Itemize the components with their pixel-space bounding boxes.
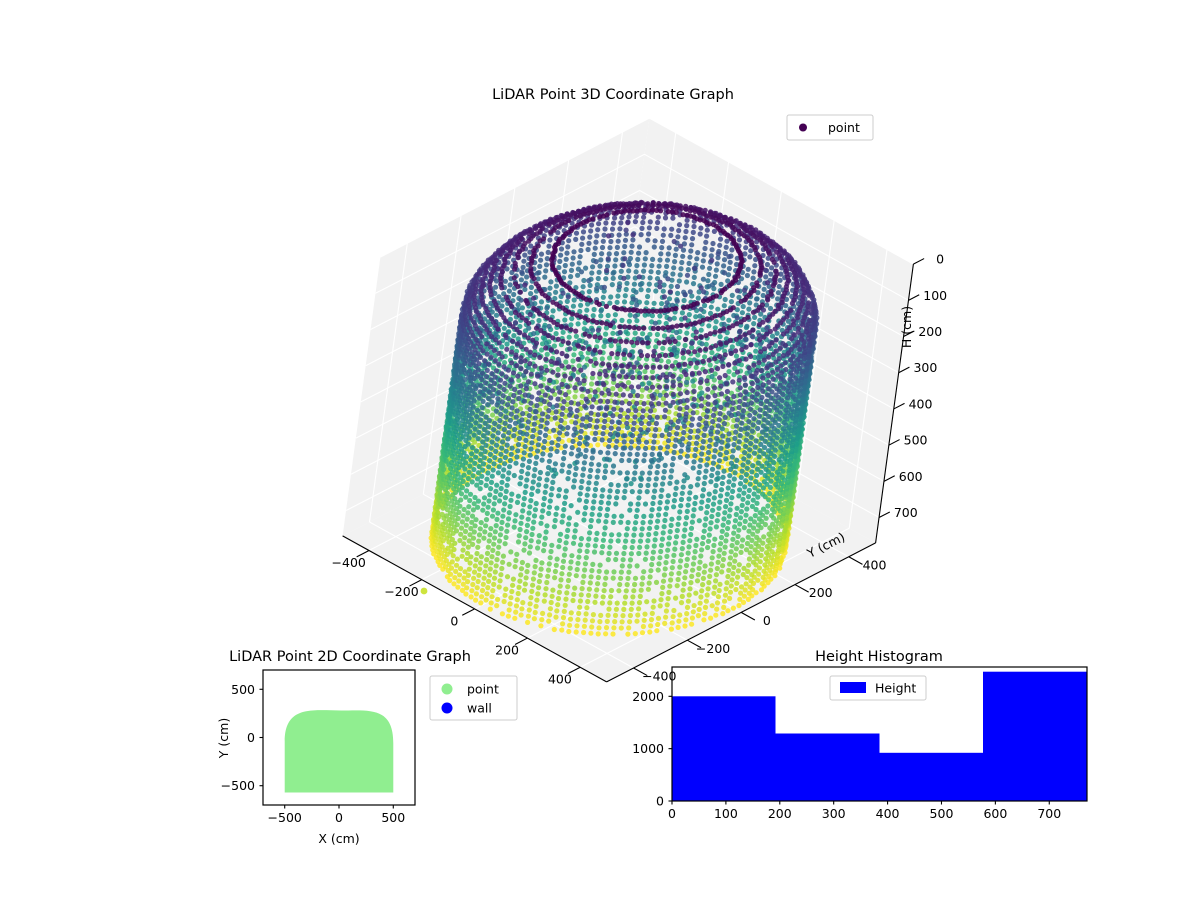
point-3d (559, 246, 564, 251)
point-3d (655, 220, 660, 225)
point-3d (622, 299, 627, 304)
point-3d (694, 335, 699, 340)
point-3d (634, 514, 639, 519)
point-3d (726, 520, 731, 525)
point-3d (783, 367, 788, 372)
point-3d (600, 544, 605, 549)
point-3d (705, 278, 710, 283)
point-3d (746, 419, 751, 424)
point-3d (638, 364, 643, 369)
point-3d (635, 393, 640, 398)
point-3d (686, 599, 691, 604)
point-3d (705, 387, 710, 392)
point-3d (642, 262, 647, 267)
point-3d (645, 238, 650, 243)
point-3d (700, 265, 705, 270)
point-3d (745, 273, 750, 278)
point-3d (730, 543, 735, 548)
point-3d (726, 254, 731, 259)
point-3d (601, 344, 606, 349)
point-3d (694, 537, 699, 542)
point-3d (723, 456, 728, 461)
point-3d (688, 484, 693, 489)
point-3d (590, 562, 595, 567)
point-3d (496, 294, 501, 299)
point-3d (713, 343, 718, 348)
point-3d (663, 512, 668, 517)
point-3d (642, 618, 647, 623)
point-3d (587, 289, 592, 294)
point-3d (611, 463, 616, 468)
point-3d (672, 450, 677, 455)
point-3d (741, 304, 746, 309)
point-3d (547, 222, 552, 227)
point-3d (741, 456, 746, 461)
point-3d (681, 478, 686, 483)
point-3d (620, 369, 625, 374)
point-3d (598, 613, 603, 618)
point-3d (716, 512, 721, 517)
point-3d (626, 380, 631, 385)
point-3d (731, 565, 736, 570)
point-3d (687, 312, 692, 317)
point-3d (538, 238, 543, 243)
point-3d (737, 237, 742, 242)
point-3d (683, 569, 688, 574)
point-3d (739, 231, 744, 236)
point-3d (776, 548, 781, 553)
point-3d (490, 412, 495, 417)
point-3d (608, 488, 613, 493)
point-3d (689, 526, 694, 531)
point-3d (722, 257, 727, 262)
point-3d (746, 460, 751, 465)
point-3d (756, 420, 761, 425)
point-3d (749, 435, 754, 440)
point-3d (696, 613, 701, 618)
point-3d (797, 347, 802, 352)
point-3d (606, 557, 611, 562)
point-3d (666, 209, 671, 214)
point-3d (674, 247, 679, 252)
point-3d (735, 369, 740, 374)
point-3d (782, 420, 787, 425)
point-3d (730, 293, 735, 298)
point-3d (747, 556, 752, 561)
point-3d (647, 629, 652, 634)
point-3d (765, 503, 770, 508)
point-3d (590, 328, 595, 333)
point-3d (641, 624, 646, 629)
point-3d (652, 543, 657, 548)
point-3d (631, 296, 636, 301)
point-3d (669, 284, 674, 289)
point-3d (725, 608, 730, 613)
point-3d (635, 508, 640, 513)
point-3d (758, 407, 763, 412)
point-3d (608, 294, 613, 299)
point-3d (725, 574, 730, 579)
point-3d (730, 537, 735, 542)
point-3d (725, 221, 730, 226)
point-3d (660, 346, 665, 351)
point-3d (612, 619, 617, 624)
point-3d (668, 289, 673, 294)
point-3d (596, 575, 601, 580)
point-3d (637, 600, 642, 605)
point-3d (624, 287, 629, 292)
point-3d (648, 275, 653, 280)
point-3d (620, 263, 625, 268)
point-3d (726, 369, 731, 374)
point-3d (728, 590, 733, 595)
point-3d (634, 619, 639, 624)
point-3d (804, 329, 809, 334)
point-3d (713, 274, 718, 279)
point-3d (731, 606, 736, 611)
point-3d (664, 506, 669, 511)
point-3d (728, 507, 733, 512)
point-3d (721, 469, 726, 474)
point-3d (653, 537, 658, 542)
point-3d (765, 317, 770, 322)
point-3d (733, 470, 738, 475)
point-3d (742, 375, 747, 380)
point-3d (751, 310, 756, 315)
point-3d (610, 227, 615, 232)
point-3d (604, 513, 609, 518)
point-3d (689, 242, 694, 247)
point-3d (567, 346, 572, 351)
point-3d (711, 543, 716, 548)
point-3d (588, 228, 593, 233)
point-3d (616, 483, 621, 488)
point-3d (507, 289, 512, 294)
point-3d (598, 335, 603, 340)
point-3d (678, 558, 683, 563)
point-3d (516, 302, 521, 307)
point-3d (705, 408, 710, 413)
point-3d (749, 469, 754, 474)
point-3d (673, 339, 678, 344)
point-3d (601, 538, 606, 543)
point-3d (584, 611, 589, 616)
point-3d (611, 210, 616, 215)
point-3d (641, 458, 646, 463)
point-3d (684, 563, 689, 568)
point-3d (712, 495, 717, 500)
point-3d (740, 310, 745, 315)
point-3d (733, 587, 738, 592)
point-3d (627, 319, 632, 324)
point-3d (725, 492, 730, 497)
point-3d (565, 299, 570, 304)
point-3d (635, 452, 640, 457)
point-3d (568, 274, 573, 279)
point-3d (760, 581, 765, 586)
point-3d (736, 493, 741, 498)
point-3d (781, 426, 786, 431)
point-3d (588, 283, 593, 288)
point-3d (684, 380, 689, 385)
point-3d (649, 617, 654, 622)
point-3d (728, 501, 733, 506)
point-3d (648, 520, 653, 525)
point-3d (589, 624, 594, 629)
point-3d (494, 313, 499, 318)
point-3d (771, 494, 776, 499)
point-3d (676, 516, 681, 521)
point-3d (643, 446, 648, 451)
point-3d (691, 513, 696, 518)
point-3d (718, 384, 723, 389)
point-3d (639, 353, 644, 358)
point-3d (709, 473, 714, 478)
point-3d (551, 308, 556, 313)
point-3d (574, 334, 579, 339)
point-3d (654, 421, 659, 426)
point-3d (739, 544, 744, 549)
point-3d (560, 291, 565, 296)
point-3d (625, 364, 630, 369)
point-3d (649, 562, 654, 567)
point-3d (697, 371, 702, 376)
point-3d (609, 343, 614, 348)
point-3d (637, 489, 642, 494)
point-3d (722, 551, 727, 556)
point-3d (761, 382, 766, 387)
point-3d (632, 470, 637, 475)
point-3d (650, 501, 655, 506)
point-3d (660, 537, 665, 542)
point-3d (603, 469, 608, 474)
point-3d (713, 483, 718, 488)
point-3d (718, 446, 723, 451)
point-3d (657, 375, 662, 380)
point-3d (748, 407, 753, 412)
point-3d (633, 331, 638, 336)
point-3d (750, 388, 755, 393)
point-3d (664, 608, 669, 613)
point-3d (650, 385, 655, 390)
point-3d (657, 264, 662, 269)
point-3d (670, 216, 675, 221)
point-3d (733, 552, 738, 557)
point-3d (761, 423, 766, 428)
point-3d (734, 337, 739, 342)
point-3d (699, 390, 704, 395)
point-3d (572, 394, 577, 399)
point-3d (709, 514, 714, 519)
point-3d (617, 374, 622, 379)
point-3d (716, 594, 721, 599)
point-3d (667, 245, 672, 250)
point-3d (598, 313, 603, 318)
point-3d (618, 339, 623, 344)
point-3d (747, 522, 752, 527)
point-3d (677, 612, 682, 617)
point-3d (657, 451, 662, 456)
point-3d (630, 489, 635, 494)
point-3d (716, 464, 721, 469)
point-3d (674, 431, 679, 436)
point-3d (693, 543, 698, 548)
point-3d (589, 568, 594, 573)
point-3d (747, 447, 752, 452)
point-3d (672, 498, 677, 503)
point-3d (685, 454, 690, 459)
point-3d (696, 296, 701, 301)
point-3d (768, 272, 773, 277)
point-3d (596, 518, 601, 523)
point-3d (733, 464, 738, 469)
point-3d (734, 354, 739, 359)
point-3d (548, 279, 553, 284)
point-3d (800, 322, 805, 327)
point-3d (712, 356, 717, 361)
point-3d (648, 408, 653, 413)
point-3d (622, 384, 627, 389)
point-3d (669, 468, 674, 473)
point-3d (636, 502, 641, 507)
point-3d (658, 445, 663, 450)
point-3d (788, 370, 793, 375)
point-3d (603, 519, 608, 524)
point-3d (690, 371, 695, 376)
point-3d (706, 498, 711, 503)
point-3d (761, 575, 766, 580)
point-3d (565, 244, 570, 249)
point-3d (640, 526, 645, 531)
point-3d (682, 575, 687, 580)
point-3d (617, 324, 622, 329)
point-3d (646, 477, 651, 482)
point-3d (594, 286, 599, 291)
point-3d (747, 488, 752, 493)
point-3d (716, 423, 721, 428)
point-3d (607, 438, 612, 443)
point-3d (762, 417, 767, 422)
point-3d (629, 439, 634, 444)
point-3d (641, 401, 646, 406)
point-3d (731, 394, 736, 399)
point-3d (630, 375, 635, 380)
point-3d (682, 527, 687, 532)
point-3d (674, 480, 679, 485)
point-3d (663, 463, 668, 468)
point-3d (662, 226, 667, 231)
point-3d (717, 228, 722, 233)
point-3d (596, 328, 601, 333)
point-3d (689, 345, 694, 350)
point-3d (718, 541, 723, 546)
point-3d (638, 427, 643, 432)
point-3d (721, 263, 726, 268)
point-3d (770, 507, 775, 512)
point-3d (614, 551, 619, 556)
point-3d (788, 357, 793, 362)
point-3d (685, 273, 690, 278)
point-3d (704, 599, 709, 604)
point-3d (621, 250, 626, 255)
point-3d (802, 350, 807, 355)
point-3d (594, 537, 599, 542)
point-3d (721, 523, 726, 528)
point-3d (573, 214, 578, 219)
point-3d (675, 234, 680, 239)
point-3d (737, 358, 742, 363)
point-3d (658, 500, 663, 505)
point-3d (756, 460, 761, 465)
point-3d (701, 487, 706, 492)
point-3d (748, 441, 753, 446)
point-3d (634, 401, 639, 406)
point-3d (683, 617, 688, 622)
point-3d (508, 282, 513, 287)
point-3d (807, 343, 812, 348)
point-3d (696, 422, 701, 427)
point-3d (648, 269, 653, 274)
point-3d (630, 594, 635, 599)
point-3d (628, 613, 633, 618)
point-3d (646, 587, 651, 592)
point-3d (778, 445, 783, 450)
point-3d (661, 475, 666, 480)
point-3d (645, 483, 650, 488)
point-3d (785, 395, 790, 400)
point-3d (622, 545, 627, 550)
point-3d (563, 359, 568, 364)
point-3d (725, 389, 730, 394)
point-3d (669, 523, 674, 528)
point-3d (751, 422, 756, 427)
point-3d (587, 235, 592, 240)
point-3d (685, 557, 690, 562)
point-3d (775, 470, 780, 475)
point-3d (631, 533, 636, 538)
point-3d (677, 222, 682, 227)
point-3d (604, 304, 609, 309)
point-3d (672, 547, 677, 552)
point-3d (737, 405, 742, 410)
point-3d (655, 470, 660, 475)
point-3d (723, 545, 728, 550)
point-3d (705, 456, 710, 461)
point-3d (673, 596, 678, 601)
point-3d (759, 395, 764, 400)
point-3d (671, 400, 676, 405)
point-3d (656, 561, 661, 566)
point-3d (568, 287, 573, 292)
point-3d (676, 571, 681, 576)
point-3d (622, 433, 627, 438)
point-3d (545, 352, 550, 357)
point-3d (666, 359, 671, 364)
point-3d (656, 270, 661, 275)
point-3d (755, 385, 760, 390)
point-3d (624, 374, 629, 379)
point-3d (664, 384, 669, 389)
point-3d (752, 485, 757, 490)
point-3d (603, 373, 608, 378)
point-3d (633, 219, 638, 224)
point-3d (539, 299, 544, 304)
point-3d (662, 414, 667, 419)
point-3d (672, 444, 677, 449)
point-3d (694, 256, 699, 261)
point-3d (655, 415, 660, 420)
point-3d (731, 400, 736, 405)
